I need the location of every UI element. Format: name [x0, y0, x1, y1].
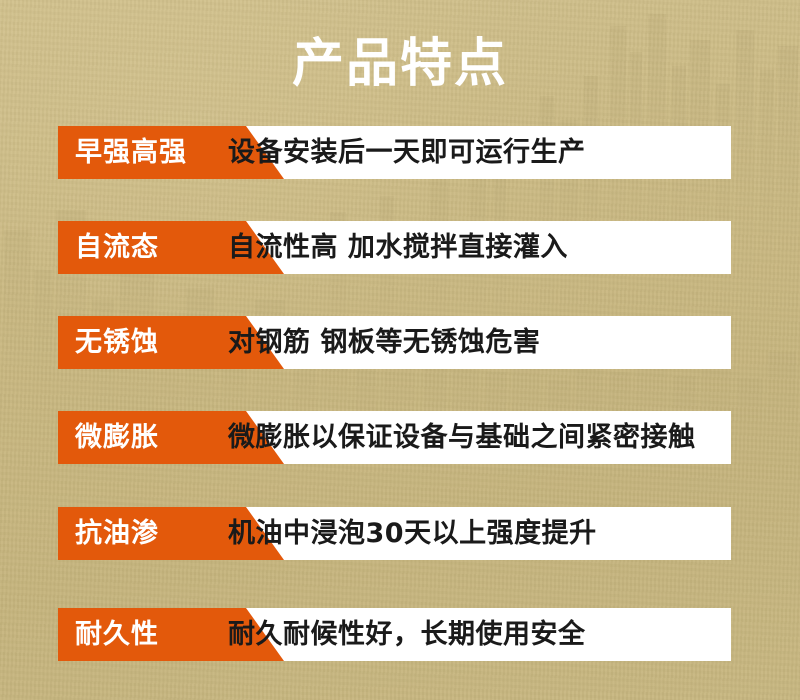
page-title: 产品特点	[0, 34, 800, 94]
feature-description: 设备安装后一天即可运行生产	[228, 126, 586, 179]
feature-description: 机油中浸泡30天以上强度提升	[228, 507, 597, 560]
feature-description: 对钢筋 钢板等无锈蚀危害	[228, 316, 540, 369]
feature-tag-label: 微膨胀	[75, 411, 159, 464]
feature-row: 自流态 自流性高 加水搅拌直接灌入	[58, 221, 731, 274]
feature-description: 微膨胀以保证设备与基础之间紧密接触	[228, 411, 696, 464]
feature-description: 自流性高 加水搅拌直接灌入	[228, 221, 568, 274]
feature-description: 耐久耐候性好，长期使用安全	[228, 608, 586, 661]
feature-row: 耐久性 耐久耐候性好，长期使用安全	[58, 608, 731, 661]
feature-tag-label: 耐久性	[75, 608, 159, 661]
feature-row: 无锈蚀 对钢筋 钢板等无锈蚀危害	[58, 316, 731, 369]
product-features-poster: 产品特点 早强高强 设备安装后一天即可运行生产 自流态 自流性高 加水搅拌直接灌…	[0, 0, 800, 700]
feature-row: 抗油渗 机油中浸泡30天以上强度提升	[58, 507, 731, 560]
feature-tag-label: 自流态	[75, 221, 159, 274]
feature-tag-label: 无锈蚀	[75, 316, 159, 369]
feature-tag-label: 抗油渗	[75, 507, 159, 560]
feature-row: 微膨胀 微膨胀以保证设备与基础之间紧密接触	[58, 411, 731, 464]
feature-row: 早强高强 设备安装后一天即可运行生产	[58, 126, 731, 179]
feature-tag-label: 早强高强	[75, 126, 187, 179]
